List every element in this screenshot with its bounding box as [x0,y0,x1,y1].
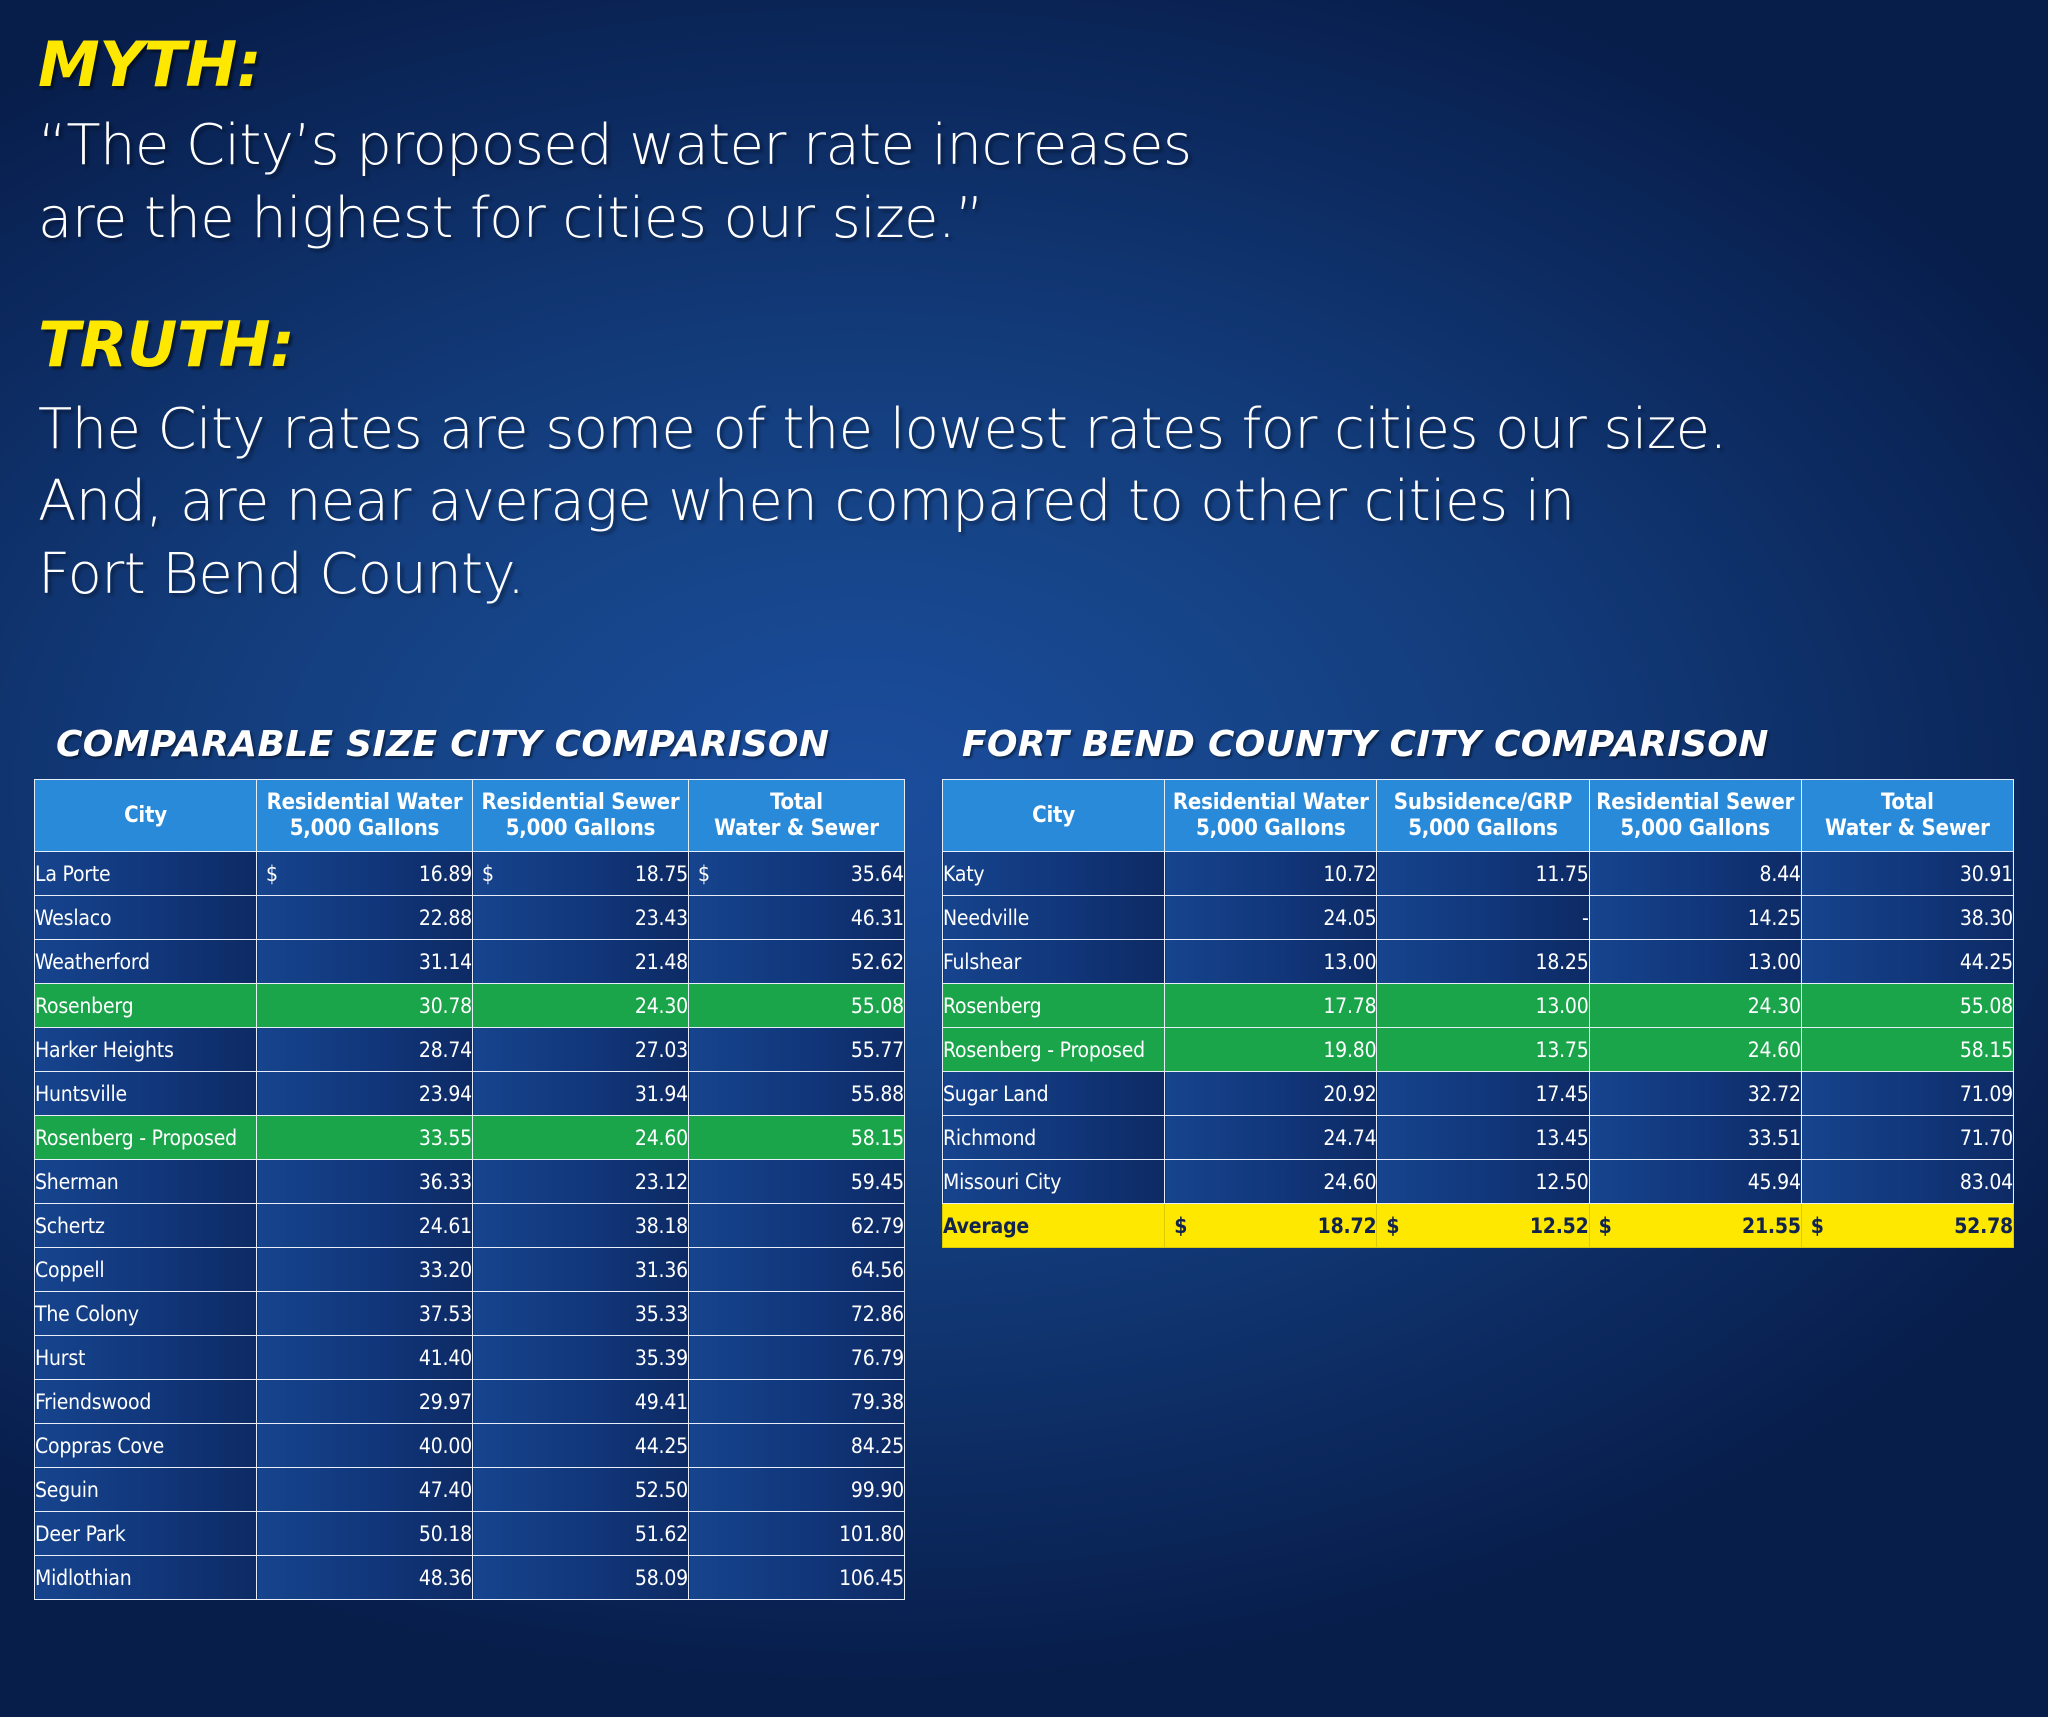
cell-city: Richmond [943,1116,1165,1160]
headline-area: MYTH: “The City’s proposed water rate in… [38,34,1998,612]
cell-total-value: 71.09 [1960,1082,2013,1106]
left-col-sewer: Residential Sewer 5,000 Gallons [473,780,689,852]
truth-line-3: Fort Bend County. [38,539,1998,612]
cell-sewer: 24.60 [473,1116,689,1160]
cell-water-value: 29.97 [419,1390,472,1414]
cell-city: Needville [943,896,1165,940]
fort-bend-county-city-table: City Residential Water 5,000 Gallons Sub… [942,779,2014,1248]
cell-water-value: 18.72 [1318,1214,1377,1238]
left-col-total-main: Total [770,790,823,815]
cell-total: $52.78 [1801,1204,2013,1248]
cell-total: 71.70 [1801,1116,2013,1160]
right-col-city: City [943,780,1165,852]
cell-total: 72.86 [689,1292,905,1336]
cell-total: 58.15 [1801,1028,2013,1072]
cell-subsidence-value: 17.45 [1536,1082,1589,1106]
cell-water-value: 13.00 [1323,950,1376,974]
cell-water: $18.72 [1165,1204,1377,1248]
cell-sewer-value: 8.44 [1760,862,1801,886]
cell-water: 40.00 [257,1424,473,1468]
cell-total-value: 44.25 [1960,950,2013,974]
cell-sewer-value: 21.55 [1742,1214,1801,1238]
cell-water-value: 36.33 [419,1170,472,1194]
right-col-city-main: City [1032,803,1075,828]
cell-total: 79.38 [689,1380,905,1424]
cell-sewer-value: 18.75 [635,862,688,886]
cell-total: 30.91 [1801,852,2013,896]
cell-total: 59.45 [689,1160,905,1204]
cell-sewer: 44.25 [473,1424,689,1468]
cell-sewer-value: 38.18 [635,1214,688,1238]
cell-city: Rosenberg [943,984,1165,1028]
cell-total: 64.56 [689,1248,905,1292]
cell-water: 13.00 [1165,940,1377,984]
cell-city: La Porte [35,852,257,896]
cell-total-value: 55.77 [851,1038,904,1062]
cell-subsidence-value: 12.52 [1530,1214,1589,1238]
truth-line-1: The City rates are some of the lowest ra… [38,394,1998,467]
right-table-title: FORT BEND COUNTY CITY COMPARISON [962,724,2014,765]
cell-total: 55.77 [689,1028,905,1072]
cell-water: 29.97 [257,1380,473,1424]
cell-sewer-value: 24.60 [635,1126,688,1150]
left-col-total-sub: Water & Sewer [693,816,900,842]
cell-sewer: 38.18 [473,1204,689,1248]
cell-water: 41.40 [257,1336,473,1380]
cell-total-value: 38.30 [1960,906,2013,930]
cell-water: 47.40 [257,1468,473,1512]
currency-symbol: $ [1811,1214,1824,1238]
cell-sewer: 24.30 [1589,984,1801,1028]
cell-water-value: 47.40 [419,1478,472,1502]
cell-total: 83.04 [1801,1160,2013,1204]
table-row: Rosenberg - Proposed19.8013.7524.6058.15 [943,1028,2014,1072]
left-table-title: COMPARABLE SIZE CITY COMPARISON [56,724,904,765]
cell-sewer-value: 52.50 [635,1478,688,1502]
cell-sewer-value: 23.43 [635,906,688,930]
left-table-body: La Porte$16.89$18.75$35.64Weslaco22.8823… [35,852,905,1600]
right-col-subsidence: Subsidence/GRP 5,000 Gallons [1377,780,1589,852]
cell-city: Hurst [35,1336,257,1380]
cell-sewer: 32.72 [1589,1072,1801,1116]
cell-total-value: 64.56 [851,1258,904,1282]
cell-total-value: 72.86 [851,1302,904,1326]
table-row: Sherman36.3323.1259.45 [35,1160,905,1204]
cell-total-value: 59.45 [851,1170,904,1194]
cell-water-value: 24.74 [1323,1126,1376,1150]
cell-total: 106.45 [689,1556,905,1600]
cell-sewer-value: 13.00 [1748,950,1801,974]
currency-symbol: $ [482,862,494,886]
cell-sewer-value: 31.36 [635,1258,688,1282]
table-row: Weslaco22.8823.4346.31 [35,896,905,940]
cell-subsidence: 12.50 [1377,1160,1589,1204]
cell-city: Katy [943,852,1165,896]
cell-city: Fulshear [943,940,1165,984]
cell-water: 24.74 [1165,1116,1377,1160]
cell-water: 19.80 [1165,1028,1377,1072]
cell-total-value: 99.90 [851,1478,904,1502]
table-row: Coppras Cove40.0044.2584.25 [35,1424,905,1468]
left-col-city: City [35,780,257,852]
cell-subsidence: 17.45 [1377,1072,1589,1116]
cell-total-value: 84.25 [851,1434,904,1458]
cell-city: Coppell [35,1248,257,1292]
right-col-sewer-main: Residential Sewer [1596,790,1794,815]
cell-city: Coppras Cove [35,1424,257,1468]
cell-total: 101.80 [689,1512,905,1556]
cell-total-value: 55.08 [851,994,904,1018]
cell-water: 10.72 [1165,852,1377,896]
left-col-sewer-main: Residential Sewer [482,790,680,815]
table-row: Weatherford31.1421.4852.62 [35,940,905,984]
cell-sewer: 14.25 [1589,896,1801,940]
cell-water-value: 40.00 [419,1434,472,1458]
cell-water-value: 16.89 [419,862,472,886]
cell-subsidence: 18.25 [1377,940,1589,984]
cell-sewer-value: 14.25 [1748,906,1801,930]
left-col-total: Total Water & Sewer [689,780,905,852]
cell-water-value: 10.72 [1323,862,1376,886]
cell-sewer: 23.12 [473,1160,689,1204]
cell-total: 71.09 [1801,1072,2013,1116]
cell-sewer-value: 45.94 [1748,1170,1801,1194]
cell-total-value: 71.70 [1960,1126,2013,1150]
cell-sewer: 33.51 [1589,1116,1801,1160]
currency-symbol: $ [698,862,710,886]
cell-sewer: 8.44 [1589,852,1801,896]
cell-city: Harker Heights [35,1028,257,1072]
cell-subsidence-value: 12.50 [1536,1170,1589,1194]
left-col-sewer-sub: 5,000 Gallons [477,816,684,842]
cell-water-value: 48.36 [419,1566,472,1590]
left-table-head: City Residential Water 5,000 Gallons Res… [35,780,905,852]
right-table-body: Katy10.7211.758.4430.91Needville24.05-14… [943,852,2014,1248]
cell-subsidence-value: 11.75 [1536,862,1589,886]
table-row: Sugar Land20.9217.4532.7271.09 [943,1072,2014,1116]
table-row: Seguin47.4052.5099.90 [35,1468,905,1512]
cell-water: 23.94 [257,1072,473,1116]
table-row: Harker Heights28.7427.0355.77 [35,1028,905,1072]
currency-symbol: $ [266,862,278,886]
right-table-head: City Residential Water 5,000 Gallons Sub… [943,780,2014,852]
cell-water-value: 19.80 [1323,1038,1376,1062]
comparable-size-city-table: City Residential Water 5,000 Gallons Res… [34,779,905,1600]
cell-sewer-value: 31.94 [635,1082,688,1106]
cell-subsidence: 13.45 [1377,1116,1589,1160]
cell-sewer-value: 23.12 [635,1170,688,1194]
cell-water-value: 23.94 [419,1082,472,1106]
cell-water-value: 30.78 [419,994,472,1018]
cell-total-value: 58.15 [1960,1038,2013,1062]
cell-city: Sherman [35,1160,257,1204]
table-row: Fulshear13.0018.2513.0044.25 [943,940,2014,984]
cell-city: Missouri City [943,1160,1165,1204]
right-col-sewer-sub: 5,000 Gallons [1594,816,1797,842]
cell-subsidence: 11.75 [1377,852,1589,896]
cell-sewer-value: 49.41 [635,1390,688,1414]
cell-sewer-value: 35.39 [635,1346,688,1370]
left-col-water: Residential Water 5,000 Gallons [257,780,473,852]
cell-water: 36.33 [257,1160,473,1204]
cell-total: 55.88 [689,1072,905,1116]
cell-total: 44.25 [1801,940,2013,984]
cell-city: Average [943,1204,1165,1248]
right-col-total-main: Total [1881,790,1934,815]
cell-sewer: $21.55 [1589,1204,1801,1248]
cell-total-value: 30.91 [1960,862,2013,886]
cell-total: 55.08 [689,984,905,1028]
cell-water: 48.36 [257,1556,473,1600]
cell-city: Rosenberg [35,984,257,1028]
cell-sewer: 27.03 [473,1028,689,1072]
cell-city: Rosenberg - Proposed [943,1028,1165,1072]
cell-sewer: 45.94 [1589,1160,1801,1204]
cell-total-value: 52.62 [851,950,904,974]
left-col-water-sub: 5,000 Gallons [261,816,468,842]
right-col-water-sub: 5,000 Gallons [1169,816,1372,842]
poster-canvas: MYTH: “The City’s proposed water rate in… [0,0,2048,1717]
cell-total: 46.31 [689,896,905,940]
cell-total-value: 55.88 [851,1082,904,1106]
cell-total-value: 101.80 [839,1522,904,1546]
cell-water-value: 33.55 [419,1126,472,1150]
right-col-sewer: Residential Sewer 5,000 Gallons [1589,780,1801,852]
cell-sewer: 31.36 [473,1248,689,1292]
cell-sewer-value: 58.09 [635,1566,688,1590]
cell-water-value: 33.20 [419,1258,472,1282]
left-table-header-row: City Residential Water 5,000 Gallons Res… [35,780,905,852]
cell-sewer: 24.60 [1589,1028,1801,1072]
cell-total-value: 106.45 [839,1566,904,1590]
cell-city: Rosenberg - Proposed [35,1116,257,1160]
table-row: Deer Park50.1851.62101.80 [35,1512,905,1556]
myth-line-1: “The City’s proposed water rate increase… [38,110,1998,183]
fort-bend-table-section: FORT BEND COUNTY CITY COMPARISON City Re… [942,724,2014,1248]
cell-sewer-value: 24.30 [635,994,688,1018]
cell-water: 24.61 [257,1204,473,1248]
table-row: Rosenberg17.7813.0024.3055.08 [943,984,2014,1028]
cell-sewer: 21.48 [473,940,689,984]
cell-total: 38.30 [1801,896,2013,940]
table-row: Katy10.7211.758.4430.91 [943,852,2014,896]
table-row: Missouri City24.6012.5045.9483.04 [943,1160,2014,1204]
cell-total: 52.62 [689,940,905,984]
cell-water-value: 24.60 [1323,1170,1376,1194]
right-col-subsidence-sub: 5,000 Gallons [1381,816,1584,842]
truth-label: TRUTH: [38,314,1998,376]
cell-water-value: 22.88 [419,906,472,930]
cell-subsidence-value: 13.00 [1536,994,1589,1018]
cell-total-value: 46.31 [851,906,904,930]
cell-sewer-value: 27.03 [635,1038,688,1062]
cell-water-value: 24.61 [419,1214,472,1238]
right-col-subsidence-main: Subsidence/GRP [1394,790,1572,815]
cell-total: 62.79 [689,1204,905,1248]
cell-water: 28.74 [257,1028,473,1072]
cell-city: Sugar Land [943,1072,1165,1116]
cell-sewer: 31.94 [473,1072,689,1116]
cell-city: Weatherford [35,940,257,984]
currency-symbol: $ [1174,1214,1187,1238]
cell-sewer: 52.50 [473,1468,689,1512]
truth-line-2: And, are near average when compared to o… [38,466,1998,539]
cell-sewer: 49.41 [473,1380,689,1424]
cell-water-value: 37.53 [419,1302,472,1326]
cell-sewer-value: 33.51 [1748,1126,1801,1150]
cell-city: Deer Park [35,1512,257,1556]
table-row: Friendswood29.9749.4179.38 [35,1380,905,1424]
cell-water: 50.18 [257,1512,473,1556]
cell-water-value: 41.40 [419,1346,472,1370]
cell-total: 55.08 [1801,984,2013,1028]
cell-subsidence: $12.52 [1377,1204,1589,1248]
table-row: Midlothian48.3658.09106.45 [35,1556,905,1600]
cell-total-value: 52.78 [1954,1214,2013,1238]
cell-subsidence-value: 13.75 [1536,1038,1589,1062]
cell-sewer-value: 24.30 [1748,994,1801,1018]
cell-city: Seguin [35,1468,257,1512]
cell-total-value: 83.04 [1960,1170,2013,1194]
cell-sewer-value: 32.72 [1748,1082,1801,1106]
myth-label: MYTH: [38,34,1998,96]
cell-water-value: 28.74 [419,1038,472,1062]
cell-water: 37.53 [257,1292,473,1336]
table-row: Average$18.72$12.52$21.55$52.78 [943,1204,2014,1248]
cell-sewer-value: 51.62 [635,1522,688,1546]
cell-sewer: 35.33 [473,1292,689,1336]
cell-sewer: 24.30 [473,984,689,1028]
myth-line-2: are the highest for cities our size.” [38,183,1998,256]
left-col-city-main: City [124,803,167,828]
table-row: Huntsville23.9431.9455.88 [35,1072,905,1116]
table-row: Needville24.05-14.2538.30 [943,896,2014,940]
cell-city: Weslaco [35,896,257,940]
cell-total-value: 58.15 [851,1126,904,1150]
cell-water: 24.05 [1165,896,1377,940]
cell-subsidence: - [1377,896,1589,940]
cell-subsidence: 13.75 [1377,1028,1589,1072]
table-row: Rosenberg30.7824.3055.08 [35,984,905,1028]
cell-water: 17.78 [1165,984,1377,1028]
cell-sewer-value: 24.60 [1748,1038,1801,1062]
cell-water-value: 20.92 [1323,1082,1376,1106]
cell-sewer: 23.43 [473,896,689,940]
cell-total: 58.15 [689,1116,905,1160]
cell-water: 24.60 [1165,1160,1377,1204]
cell-city: Huntsville [35,1072,257,1116]
cell-water: 22.88 [257,896,473,940]
cell-water-value: 50.18 [419,1522,472,1546]
cell-subsidence-value: 13.45 [1536,1126,1589,1150]
cell-water-value: 24.05 [1323,906,1376,930]
currency-symbol: $ [1599,1214,1612,1238]
cell-water: 30.78 [257,984,473,1028]
cell-sewer-value: 35.33 [635,1302,688,1326]
cell-total: 84.25 [689,1424,905,1468]
cell-total-value: 76.79 [851,1346,904,1370]
comparable-size-table-section: COMPARABLE SIZE CITY COMPARISON City Res… [34,724,904,1600]
cell-total: $35.64 [689,852,905,896]
cell-city: Midlothian [35,1556,257,1600]
cell-water: $16.89 [257,852,473,896]
table-row: The Colony37.5335.3372.86 [35,1292,905,1336]
currency-symbol: $ [1386,1214,1399,1238]
cell-total: 76.79 [689,1336,905,1380]
table-row: Schertz24.6138.1862.79 [35,1204,905,1248]
cell-water: 33.20 [257,1248,473,1292]
table-row: Richmond24.7413.4533.5171.70 [943,1116,2014,1160]
cell-water: 20.92 [1165,1072,1377,1116]
cell-total: 99.90 [689,1468,905,1512]
right-col-water-main: Residential Water [1173,790,1369,815]
cell-total-value: 35.64 [851,862,904,886]
cell-city: Friendswood [35,1380,257,1424]
cell-sewer: 13.00 [1589,940,1801,984]
cell-water-value: 31.14 [419,950,472,974]
right-col-total: Total Water & Sewer [1801,780,2013,852]
cell-subsidence-value: 18.25 [1536,950,1589,974]
cell-subsidence: 13.00 [1377,984,1589,1028]
cell-sewer: $18.75 [473,852,689,896]
left-col-water-main: Residential Water [267,790,463,815]
cell-city: The Colony [35,1292,257,1336]
cell-sewer: 35.39 [473,1336,689,1380]
headline-spacer [38,256,1998,314]
cell-subsidence-value: - [1582,906,1589,930]
cell-sewer: 51.62 [473,1512,689,1556]
cell-total-value: 62.79 [851,1214,904,1238]
cell-city: Schertz [35,1204,257,1248]
table-row: Hurst41.4035.3976.79 [35,1336,905,1380]
right-table-header-row: City Residential Water 5,000 Gallons Sub… [943,780,2014,852]
right-col-water: Residential Water 5,000 Gallons [1165,780,1377,852]
cell-water: 31.14 [257,940,473,984]
cell-sewer: 58.09 [473,1556,689,1600]
right-col-total-sub: Water & Sewer [1806,816,2009,842]
table-row: Rosenberg - Proposed33.5524.6058.15 [35,1116,905,1160]
table-row: La Porte$16.89$18.75$35.64 [35,852,905,896]
cell-sewer-value: 21.48 [635,950,688,974]
cell-total-value: 79.38 [851,1390,904,1414]
table-row: Coppell33.2031.3664.56 [35,1248,905,1292]
cell-water-value: 17.78 [1323,994,1376,1018]
cell-sewer-value: 44.25 [635,1434,688,1458]
cell-water: 33.55 [257,1116,473,1160]
cell-total-value: 55.08 [1960,994,2013,1018]
